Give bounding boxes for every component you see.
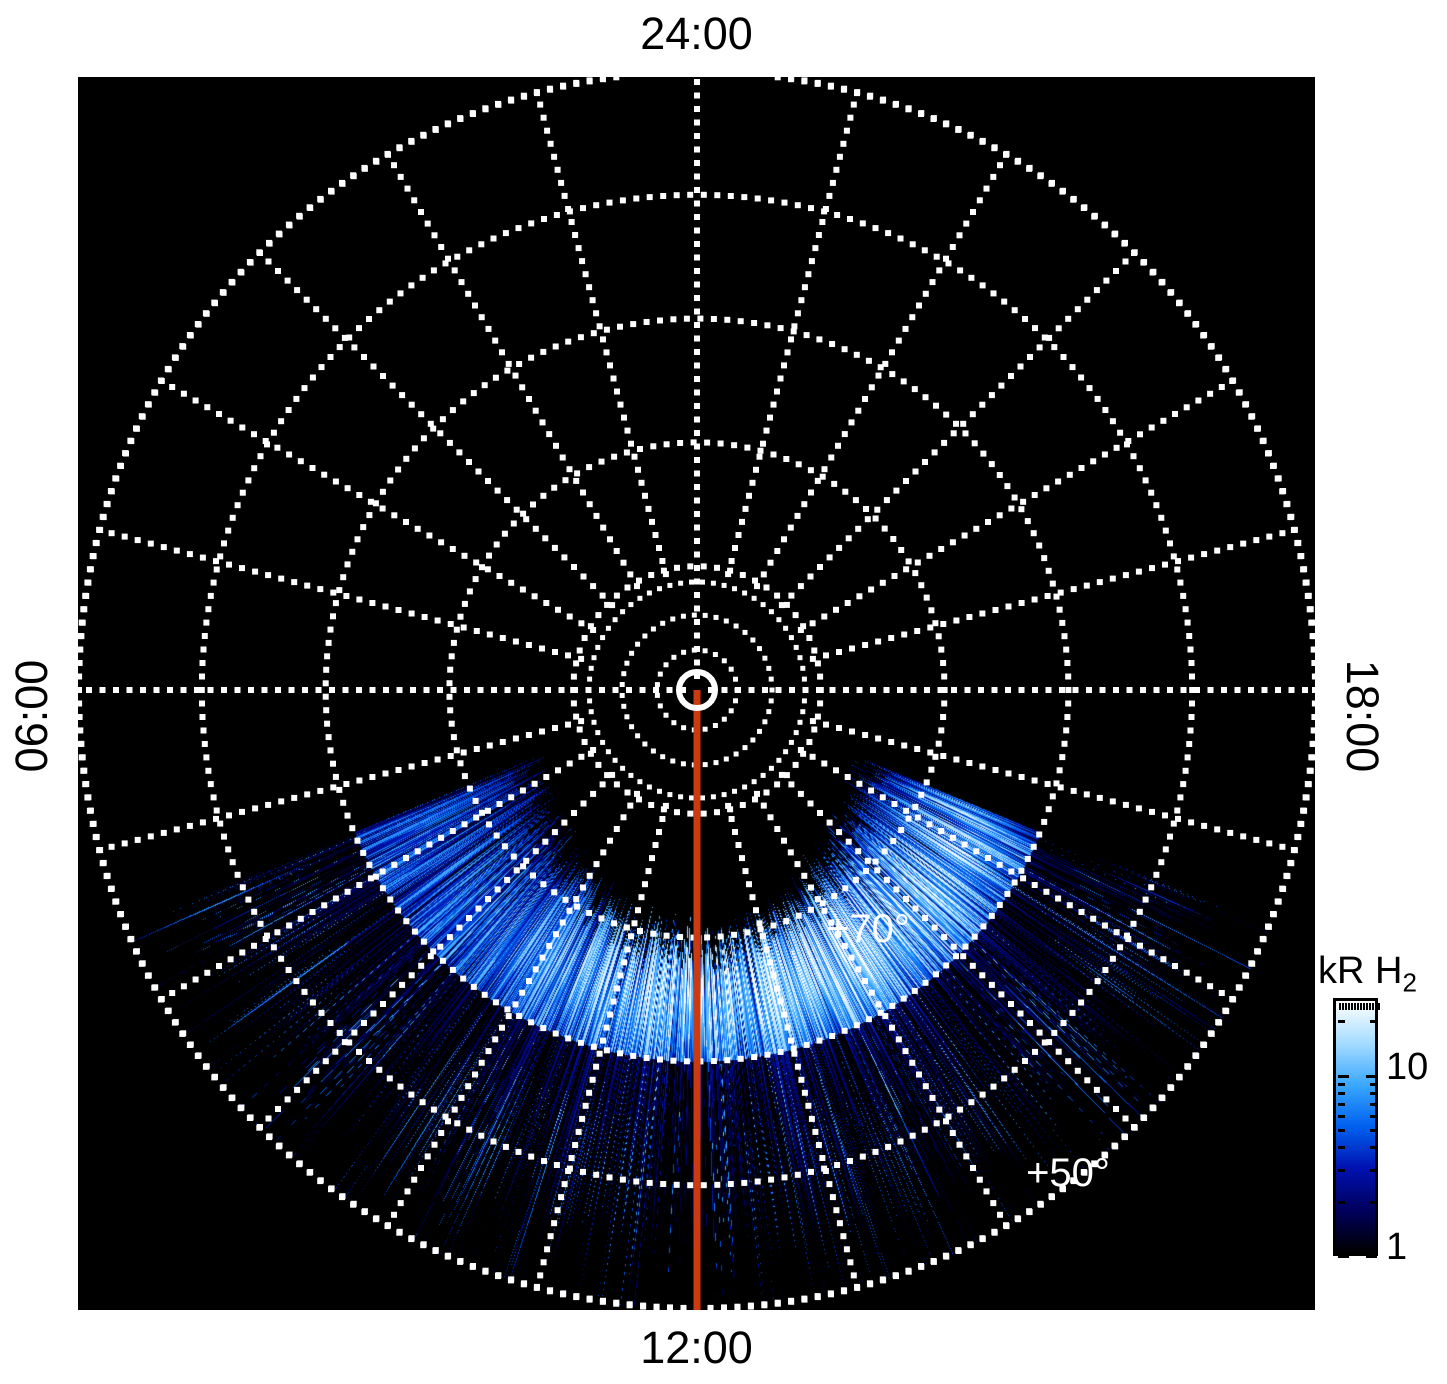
colorbar-tick xyxy=(1363,1003,1365,1010)
mlt-label-12: 12:00 xyxy=(0,1322,1393,1374)
latitude-label: +70° xyxy=(826,907,910,951)
colorbar-tick xyxy=(1370,1083,1377,1086)
colorbar-title: kR H2 xyxy=(1318,950,1417,999)
colorbar-tick xyxy=(1338,1083,1345,1086)
colorbar-gradient xyxy=(1336,1001,1375,1253)
colorbar-label: 10 xyxy=(1386,1046,1428,1089)
colorbar-tick xyxy=(1366,1075,1377,1078)
colorbar-title-main: kR H xyxy=(1318,950,1402,992)
colorbar-tick xyxy=(1339,1003,1341,1010)
colorbar-box xyxy=(1333,998,1378,1256)
colorbar-tick xyxy=(1338,1103,1345,1106)
colorbar-tick xyxy=(1370,1201,1377,1204)
colorbar-tick xyxy=(1338,1255,1349,1258)
colorbar-tick xyxy=(1370,1129,1377,1132)
mlt-label-06: 06:00 xyxy=(6,616,58,816)
colorbar-tick xyxy=(1372,1003,1374,1010)
colorbar-tick xyxy=(1354,1003,1356,1010)
colorbar-tick xyxy=(1357,1003,1359,1010)
colorbar-tick xyxy=(1338,1092,1345,1095)
colorbar-tick xyxy=(1338,1075,1349,1078)
colorbar-tick xyxy=(1370,1092,1377,1095)
colorbar-tick xyxy=(1370,1103,1377,1106)
colorbar-tick xyxy=(1348,1003,1350,1010)
colorbar-tick xyxy=(1338,1146,1345,1149)
colorbar-tick xyxy=(1351,1003,1353,1010)
colorbar-tick xyxy=(1345,1003,1347,1010)
latitude-label: +50° xyxy=(1026,1151,1110,1195)
colorbar-tick xyxy=(1370,1020,1377,1023)
mlt-label-24: 24:00 xyxy=(0,8,1393,60)
polar-plot-panel: +70°+50° xyxy=(78,77,1315,1310)
colorbar-tick xyxy=(1370,1115,1377,1118)
figure-root: 24:00 12:00 06:00 18:00 +70°+50° kR H2 1… xyxy=(0,0,1447,1384)
colorbar-tick xyxy=(1378,1003,1380,1010)
colorbar-tick xyxy=(1338,1020,1345,1023)
polar-plot-svg: +70°+50° xyxy=(78,77,1315,1310)
colorbar-tick xyxy=(1370,1169,1377,1172)
mlt-label-18: 18:00 xyxy=(1336,616,1388,816)
colorbar-title-sub: 2 xyxy=(1402,968,1416,998)
colorbar-label: 1 xyxy=(1386,1226,1407,1269)
colorbar-tick xyxy=(1338,1129,1345,1132)
colorbar-tick xyxy=(1338,1115,1345,1118)
colorbar-tick xyxy=(1375,1003,1377,1010)
colorbar-tick xyxy=(1366,1003,1368,1010)
colorbar-tick xyxy=(1366,1255,1377,1258)
colorbar-tick xyxy=(1342,1003,1344,1010)
colorbar-tick xyxy=(1338,1169,1345,1172)
colorbar-tick xyxy=(1370,1146,1377,1149)
colorbar: kR H2 101 xyxy=(1318,950,1447,1320)
colorbar-tick xyxy=(1369,1003,1371,1010)
colorbar-tick xyxy=(1338,1201,1345,1204)
colorbar-tick xyxy=(1360,1003,1362,1010)
